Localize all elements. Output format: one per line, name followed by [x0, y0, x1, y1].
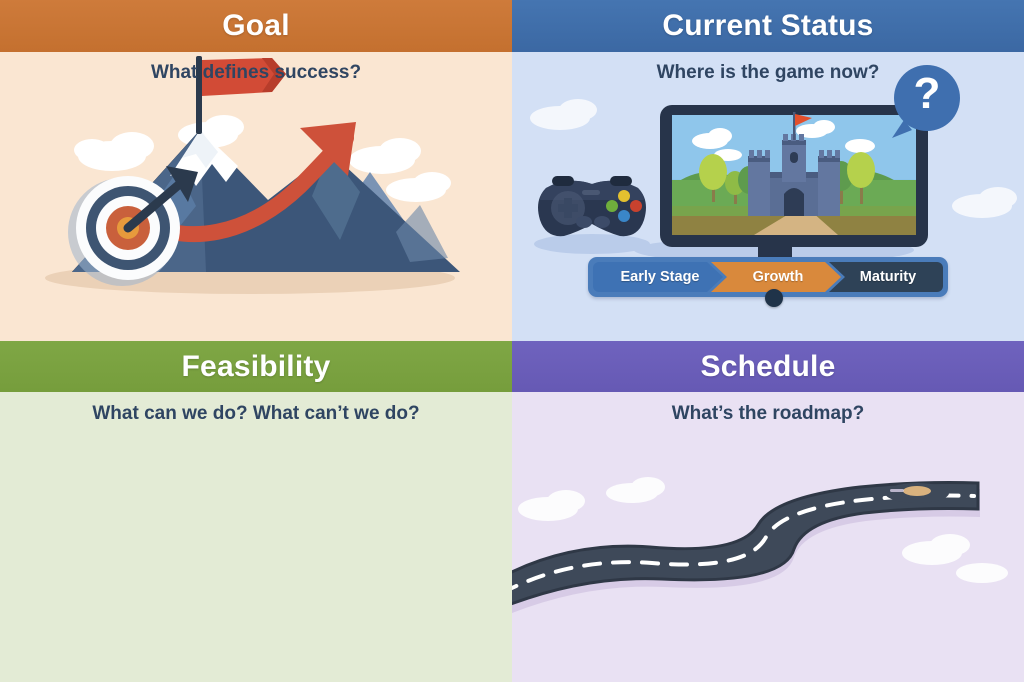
panel-schedule: Goal Q1 Q2 Q3 Q4 Schedule What’s the roa… [512, 341, 1024, 682]
panel-feasibility-header: Feasibility [0, 341, 512, 392]
panel-current-status-title: Current Status [662, 9, 873, 43]
panel-goal: Goal What defines success? [0, 0, 512, 341]
stage-current-marker-dot [765, 289, 783, 307]
panel-feasibility: Possible Not Possible Feasibility What c… [0, 341, 512, 682]
panel-schedule-header: Schedule [512, 341, 1024, 392]
stage-early-stage-label: Early Stage [593, 269, 723, 285]
stage-growth-label: Growth [711, 269, 841, 285]
panel-schedule-title: Schedule [701, 350, 836, 384]
stage-maturity-label: Maturity [829, 269, 943, 285]
panel-feasibility-title: Feasibility [182, 350, 331, 384]
panel-current-status-subtitle: Where is the game now? [512, 62, 1024, 84]
panel-current-status-header: Current Status [512, 0, 1024, 52]
schedule-illustration [512, 341, 1024, 682]
panel-goal-title: Goal [222, 9, 289, 43]
panel-current-status: ? Early Stage Growth Maturity Current St… [512, 0, 1024, 341]
stage-early-stage[interactable]: Early Stage [593, 262, 723, 292]
panel-schedule-subtitle: What’s the roadmap? [512, 403, 1024, 425]
stage-maturity[interactable]: Maturity [829, 262, 943, 292]
stage-growth[interactable]: Growth [711, 262, 841, 292]
panel-feasibility-subtitle: What can we do? What can’t we do? [0, 403, 512, 425]
panel-goal-subtitle: What defines success? [0, 62, 512, 84]
panel-goal-header: Goal [0, 0, 512, 52]
infographic-grid: Goal What defines success? [0, 0, 1024, 682]
